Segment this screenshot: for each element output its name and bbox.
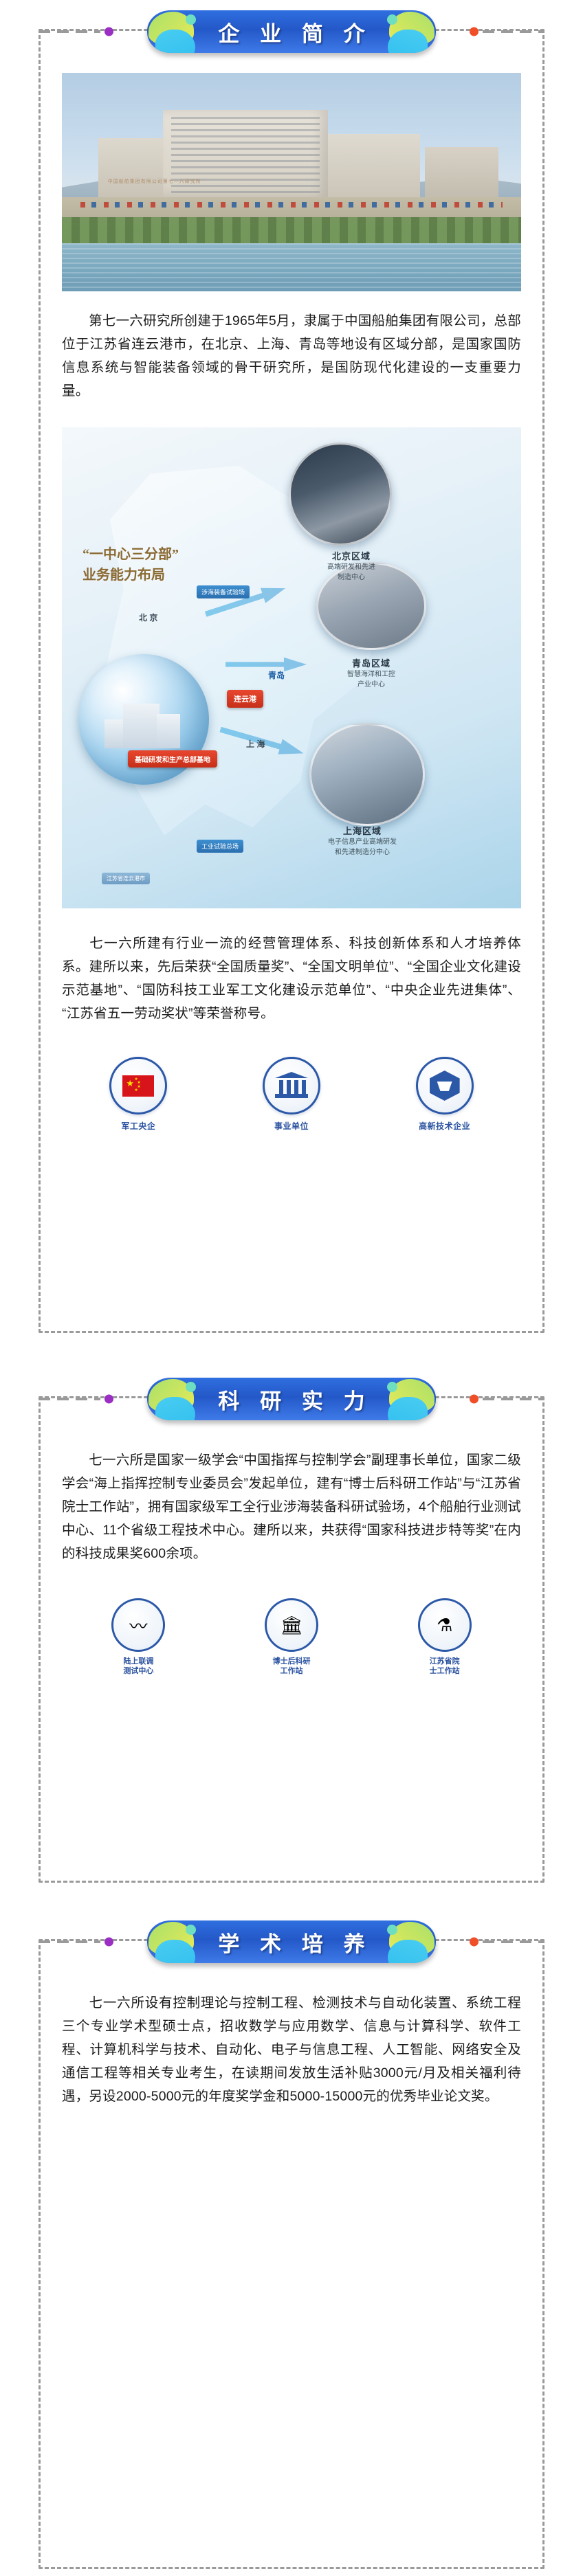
region-shanghai: 上海区域 电子信息产业高端研发 和先进制造分中心	[304, 826, 421, 857]
research-badge-label-line1: 博士后科研	[272, 1657, 310, 1666]
banner-purple-dot-icon	[104, 1938, 113, 1947]
banner-ribbon: 企 业 简 介	[147, 10, 436, 53]
photo-tree-line	[62, 217, 521, 245]
building-base	[275, 1094, 308, 1098]
honor-badge-label: 事业单位	[240, 1120, 343, 1132]
teal-dot-icon	[387, 1925, 397, 1935]
banner-orange-dot-icon	[470, 1395, 478, 1404]
banner-purple-dot-icon	[104, 1395, 113, 1404]
research-badge-row: 〰 陆上联调 测试中心 🏛 博士后科研 工作站 ⚗ 江苏省院 士工作站	[62, 1598, 521, 1677]
region-desc-line1: 智慧海洋和工控	[323, 671, 419, 680]
banner-orange-dot-icon	[470, 27, 478, 36]
banner-left-rule	[38, 30, 100, 33]
banner-title: 科 研 实 力	[210, 1384, 372, 1415]
rbadge-circle: 〰	[111, 1598, 165, 1652]
city-name: 青岛	[268, 671, 285, 680]
academic-paragraph-1: 七一六所设有控制理论与控制工程、检测技术与自动化装置、系统工程三个专业学术型硕士…	[62, 1991, 521, 2108]
region-name: 上海区域	[304, 826, 421, 837]
banner-left-rule	[38, 1398, 100, 1400]
research-badge-postdoc-station: 🏛 博士后科研 工作站	[240, 1598, 343, 1677]
banner-blob-left	[147, 1920, 213, 1963]
mini-badge-sea-test-site: 涉海装备试验场	[197, 585, 250, 598]
photo-caption: 中国船舶集团有限公司第七一六研究所	[108, 178, 201, 185]
region-desc-line2: 和先进制造分中心	[304, 849, 421, 858]
building-roof	[275, 1072, 308, 1078]
banner-blob-right	[370, 1378, 436, 1420]
rbadge-circle: 🏛	[265, 1598, 318, 1652]
building-column	[294, 1080, 298, 1094]
globe-building-b	[157, 714, 180, 748]
honor-badge-row: ★ ★ ★ ★ ★ 军工央企 事业单位	[62, 1057, 521, 1132]
shanghai-region-photo	[309, 723, 425, 826]
academician-station-icon: ⚗	[437, 1615, 452, 1636]
mini-badge-label: 江苏省连云港市	[107, 875, 145, 882]
intro-paragraph-2: 七一六所建有行业一流的经营管理体系、科技创新体系和人才培养体系。建所以来，先后荣…	[62, 932, 521, 1025]
intro-paragraph-2-text: 七一六所建有行业一流的经营管理体系、科技创新体系和人才培养体系。建所以来，先后荣…	[62, 936, 521, 1021]
banner-company-intro: 企 业 简 介	[0, 0, 583, 63]
research-badge-label: 江苏省院 士工作站	[393, 1657, 496, 1677]
banner-right-rule	[483, 1398, 544, 1400]
banner-right-rule	[483, 30, 544, 33]
banner-blob-left	[147, 1378, 213, 1420]
photo-lake	[62, 243, 521, 291]
region-desc-line2: 制造中心	[307, 574, 396, 583]
teal-dot-icon	[387, 1382, 397, 1392]
research-badge-label-line2: 工作站	[280, 1667, 302, 1675]
hub-subtitle-badge: 基础研发和生产总部基地	[128, 750, 217, 768]
banner-ribbon: 科 研 实 力	[147, 1378, 436, 1420]
region-desc-line2: 产业中心	[323, 681, 419, 690]
photo-building-right	[328, 134, 420, 199]
teal-dot-icon	[186, 1382, 196, 1392]
china-flag-icon: ★ ★ ★ ★ ★	[122, 1075, 154, 1097]
globe-building-c	[104, 719, 123, 748]
region-name: 北京区域	[307, 551, 396, 562]
globe-building-a	[123, 704, 159, 748]
photo-parked-cars	[80, 202, 503, 208]
teal-dot-icon	[387, 14, 397, 25]
badge-circle	[416, 1057, 474, 1115]
mini-badge-label: 涉海装备试验场	[201, 589, 245, 596]
city-label-qingdao: 青岛	[268, 669, 285, 681]
honor-badge-military-soe: ★ ★ ★ ★ ★ 军工央企	[87, 1057, 190, 1132]
research-badge-label-line2: 测试中心	[123, 1667, 153, 1675]
research-badge-academician-station: ⚗ 江苏省院 士工作站	[393, 1598, 496, 1677]
region-desc-line1: 电子信息产业高端研发	[304, 838, 421, 847]
building-column	[279, 1080, 283, 1094]
beijing-region-photo	[289, 443, 392, 546]
teal-dot-icon	[186, 1925, 196, 1935]
mini-badge-industrial-site: 工业试验总场	[197, 840, 243, 853]
academic-paragraph-1-text: 七一六所设有控制理论与控制工程、检测技术与自动化装置、系统工程三个专业学术型硕士…	[62, 1995, 521, 2104]
region-desc-line1: 高端研发和先进	[307, 563, 396, 572]
region-beijing: 北京区域 高端研发和先进 制造中心	[307, 551, 396, 582]
flag-big-star: ★	[126, 1079, 134, 1088]
research-badge-label: 陆上联调 测试中心	[87, 1657, 190, 1677]
banner-blob-left	[147, 10, 213, 53]
research-badge-label-line1: 江苏省院	[430, 1657, 460, 1666]
banner-right-rule	[483, 1940, 544, 1943]
mini-badge-province-city: 江苏省连云港市	[102, 873, 150, 884]
map-title: “一中心三分部” 业务能力布局	[82, 544, 179, 585]
hub-badge-label: 连云港	[234, 695, 256, 704]
region-qingdao: 青岛区域 智慧海洋和工控 产业中心	[323, 658, 419, 689]
intro-paragraph-1: 第七一六研究所创建于1965年5月，隶属于中国船舶集团有限公司，总部位于江苏省连…	[62, 309, 521, 403]
building-column	[287, 1080, 291, 1094]
mini-badge-label: 工业试验总场	[201, 843, 239, 850]
city-label-shanghai: 上 海	[246, 738, 265, 750]
section-academic-training: 学 术 培 养 七一六所设有控制理论与控制工程、检测技术与自动化装置、系统工程三…	[0, 1910, 583, 2576]
banner-research-strength: 科 研 实 力	[0, 1367, 583, 1431]
badge-circle	[263, 1057, 320, 1115]
city-name: 上 海	[246, 739, 265, 749]
city-name: 北 京	[139, 613, 157, 623]
institution-building-icon	[275, 1072, 308, 1099]
banner-title: 学 术 培 养	[210, 1927, 372, 1958]
honor-badge-public-institution: 事业单位	[240, 1057, 343, 1132]
photo-building-far-right	[425, 147, 498, 199]
section-research-strength: 科 研 实 力 七一六所是国家一级学会“中国指挥与控制学会”副理事长单位，国家二…	[0, 1367, 583, 1910]
banner-orange-dot-icon	[470, 1938, 478, 1947]
intro-paragraph-1-text: 第七一六研究所创建于1965年5月，隶属于中国船舶集团有限公司，总部位于江苏省连…	[62, 313, 521, 399]
banner-blob-right	[370, 10, 436, 53]
photo-building-left	[98, 138, 167, 199]
badge-circle: ★ ★ ★ ★ ★	[109, 1057, 167, 1115]
honor-badge-label: 军工央企	[87, 1120, 190, 1132]
hexagon-inner-shape	[437, 1082, 452, 1091]
wave-test-icon: 〰	[129, 1613, 147, 1638]
banner-left-rule	[38, 1940, 100, 1943]
postdoc-station-icon: 🏛	[280, 1615, 302, 1636]
institute-headquarters-photo: 中国船舶集团有限公司第七一六研究所	[62, 73, 521, 291]
city-label-beijing: 北 京	[139, 612, 157, 623]
section-company-intro: 企 业 简 介 中国船舶集团有限公司第七一六研究所 第七一六研究所创建于1965…	[0, 0, 583, 1367]
banner-blob-right	[370, 1920, 436, 1963]
research-badge-label-line1: 陆上联调	[123, 1657, 153, 1666]
banner-purple-dot-icon	[104, 27, 113, 36]
research-badge-label: 博士后科研 工作站	[240, 1657, 343, 1677]
banner-academic-training: 学 术 培 养	[0, 1910, 583, 1973]
teal-dot-icon	[186, 14, 196, 25]
flag-small-star: ★	[134, 1088, 137, 1093]
business-layout-map: “一中心三分部” 业务能力布局 北 京 青岛 上 海 连云港 基础研发和生产总部…	[62, 427, 521, 908]
research-badge-label-line2: 士工作站	[430, 1667, 460, 1675]
map-title-line1: “一中心三分部”	[82, 547, 179, 562]
banner-title: 企 业 简 介	[210, 16, 372, 47]
rbadge-circle: ⚗	[418, 1598, 472, 1652]
hub-subtitle-label: 基础研发和生产总部基地	[135, 757, 210, 764]
region-name: 青岛区域	[323, 658, 419, 669]
honor-badge-hitech-enterprise: 高新技术企业	[393, 1057, 496, 1132]
hexagon-tech-icon	[430, 1071, 460, 1101]
hub-badge-lianyungang: 连云港	[227, 690, 263, 708]
honor-badge-label: 高新技术企业	[393, 1120, 496, 1132]
research-paragraph-1: 七一六所是国家一级学会“中国指挥与控制学会”副理事长单位，国家二级学会“海上指挥…	[62, 1448, 521, 1565]
map-title-line2: 业务能力布局	[82, 568, 165, 583]
building-column	[302, 1080, 306, 1094]
banner-ribbon: 学 术 培 养	[147, 1920, 436, 1963]
research-badge-test-center: 〰 陆上联调 测试中心	[87, 1598, 190, 1677]
research-paragraph-1-text: 七一六所是国家一级学会“中国指挥与控制学会”副理事长单位，国家二级学会“海上指挥…	[62, 1453, 521, 1561]
